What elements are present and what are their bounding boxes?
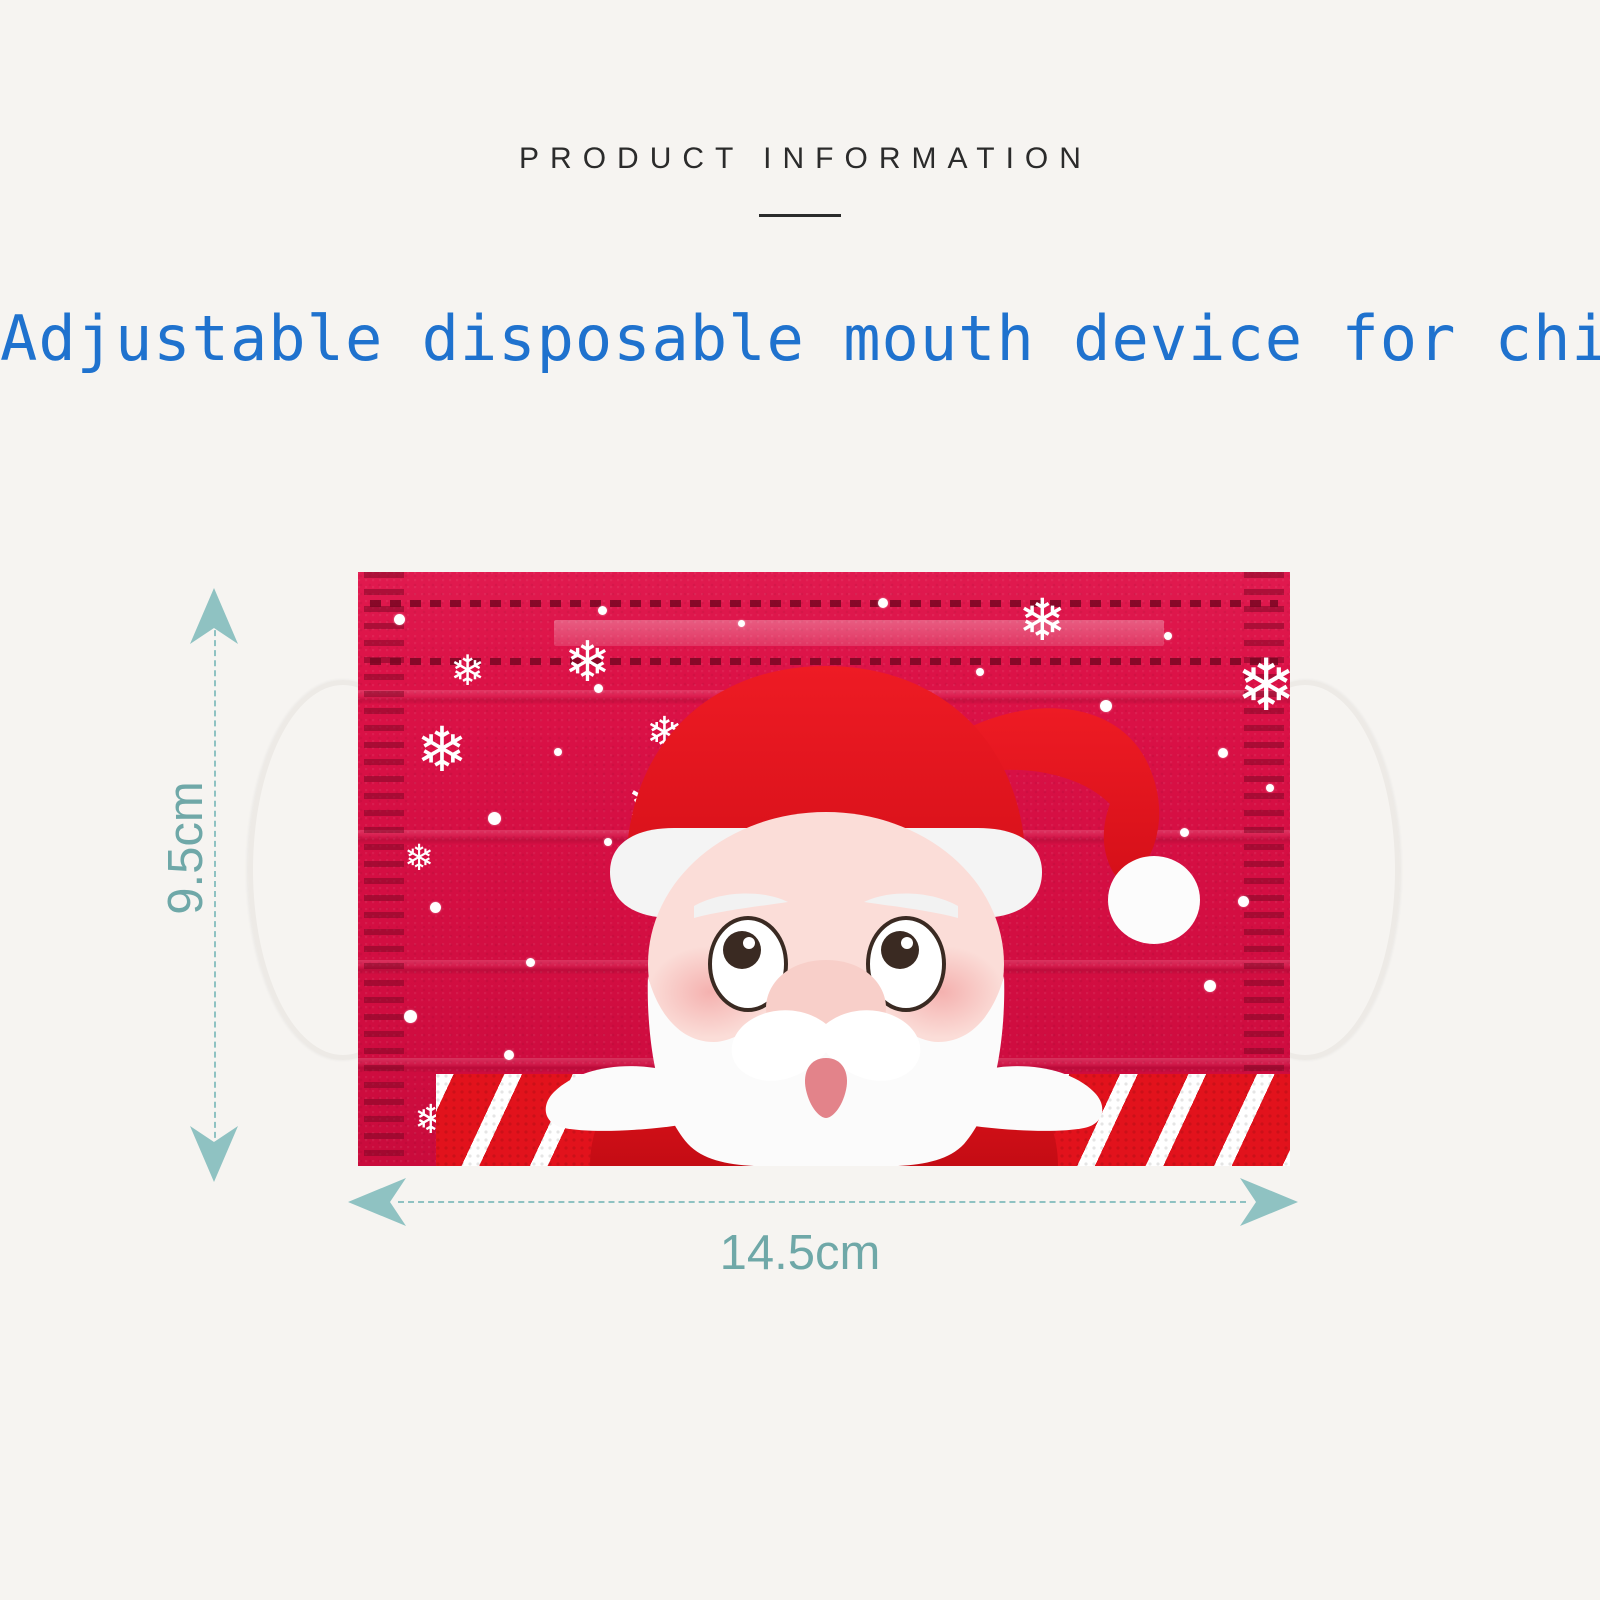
arrow-down-icon [190, 1126, 238, 1182]
header-divider [759, 214, 841, 217]
arrow-right-icon [1240, 1178, 1298, 1226]
santa-pupil-right [881, 931, 919, 969]
product-image-face-mask: ❄ ❄ ❄ ❄ ❄ ❄ ❄ ❄ ❄ [358, 572, 1290, 1166]
width-dimension-label: 14.5cm [0, 1225, 1600, 1281]
height-dimension-label: 9.5cm [158, 758, 214, 938]
santa-hat-pompom [1108, 856, 1200, 944]
page-headline: Adjustable disposable mouth device for c… [0, 302, 1600, 375]
product-information-page: PRODUCT INFORMATION Adjustable disposabl… [0, 0, 1600, 1600]
mask-body: ❄ ❄ ❄ ❄ ❄ ❄ ❄ ❄ ❄ [358, 572, 1290, 1166]
width-dimension-line [398, 1201, 1246, 1203]
santa-eye-highlight-left [743, 937, 755, 949]
arrow-up-icon [190, 588, 238, 644]
arrow-left-icon [348, 1178, 406, 1226]
santa-pupil-left [723, 931, 761, 969]
santa-illustration [358, 572, 1290, 1166]
height-dimension-line [214, 600, 216, 1168]
section-eyebrow-title: PRODUCT INFORMATION [0, 142, 1600, 176]
santa-eye-highlight-right [901, 937, 913, 949]
